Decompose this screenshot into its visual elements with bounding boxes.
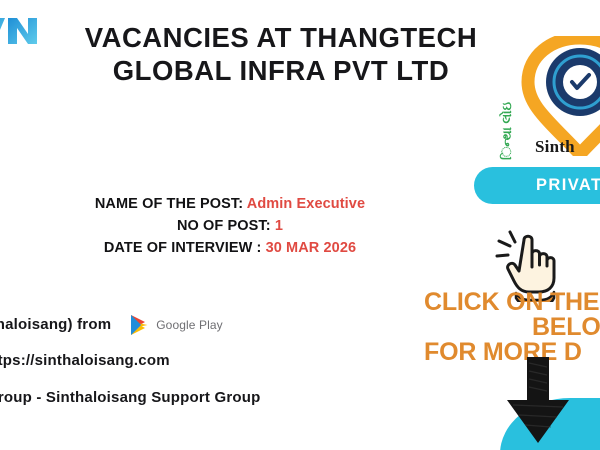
sector-badge[interactable]: PRIVAT (474, 167, 600, 204)
post-count-value: 1 (275, 218, 283, 234)
post-name-label: NAME OF THE POST: (95, 196, 243, 212)
cta-line-2: BELOW (424, 315, 600, 340)
website-line: re jobs at https://sinthaloisang.com (0, 345, 390, 376)
down-arrow-icon (497, 355, 587, 450)
google-play-badge[interactable]: Google Play (129, 314, 222, 336)
facebook-group-text: Facebook Group - Sinthaloisang Support G… (0, 389, 260, 406)
google-play-label: Google Play (156, 318, 222, 332)
brand-logo-left (0, 14, 40, 46)
interview-date-row: DATE OF INTERVIEW : 30 MAR 2026 (30, 237, 430, 259)
post-details: NAME OF THE POST: Admin Executive NO OF … (30, 193, 430, 259)
interview-date-label: DATE OF INTERVIEW : (104, 240, 262, 256)
post-count-label: NO OF POST: (177, 218, 271, 234)
cta-line-1: CLICK ON THE (424, 290, 600, 315)
page-title-line-1: VACANCIES AT THANGTECH (46, 22, 516, 55)
post-count-row: NO OF POST: 1 (30, 215, 430, 237)
info-lines: ur app (Sinthaloisang) from Google Play … (0, 309, 390, 413)
app-download-text: ur app (Sinthaloisang) from (0, 316, 111, 333)
post-name-row: NAME OF THE POST: Admin Executive (30, 193, 430, 215)
app-download-line: ur app (Sinthaloisang) from Google Play (0, 309, 390, 340)
website-text: re jobs at https://sinthaloisang.com (0, 352, 170, 369)
facebook-group-line: Facebook Group - Sinthaloisang Support G… (0, 382, 390, 413)
interview-date-value: 30 MAR 2026 (266, 240, 357, 256)
post-name-value: Admin Executive (247, 196, 365, 212)
cta-text: CLICK ON THE BELOW FOR MORE D (424, 290, 600, 365)
org-script-text: િન્થા લોઇ (500, 60, 526, 160)
page-title-line-2: GLOBAL INFRA PVT LTD (46, 55, 516, 88)
job-vacancy-poster: VACANCIES AT THANGTECH GLOBAL INFRA PVT … (0, 0, 600, 450)
org-wordmark: Sinth (535, 137, 575, 157)
wn-logo-icon (0, 14, 40, 46)
page-title: VACANCIES AT THANGTECH GLOBAL INFRA PVT … (46, 22, 516, 87)
google-play-icon (129, 314, 149, 336)
sector-badge-label: PRIVAT (536, 176, 600, 195)
scribble-down-arrow-icon (497, 355, 587, 450)
